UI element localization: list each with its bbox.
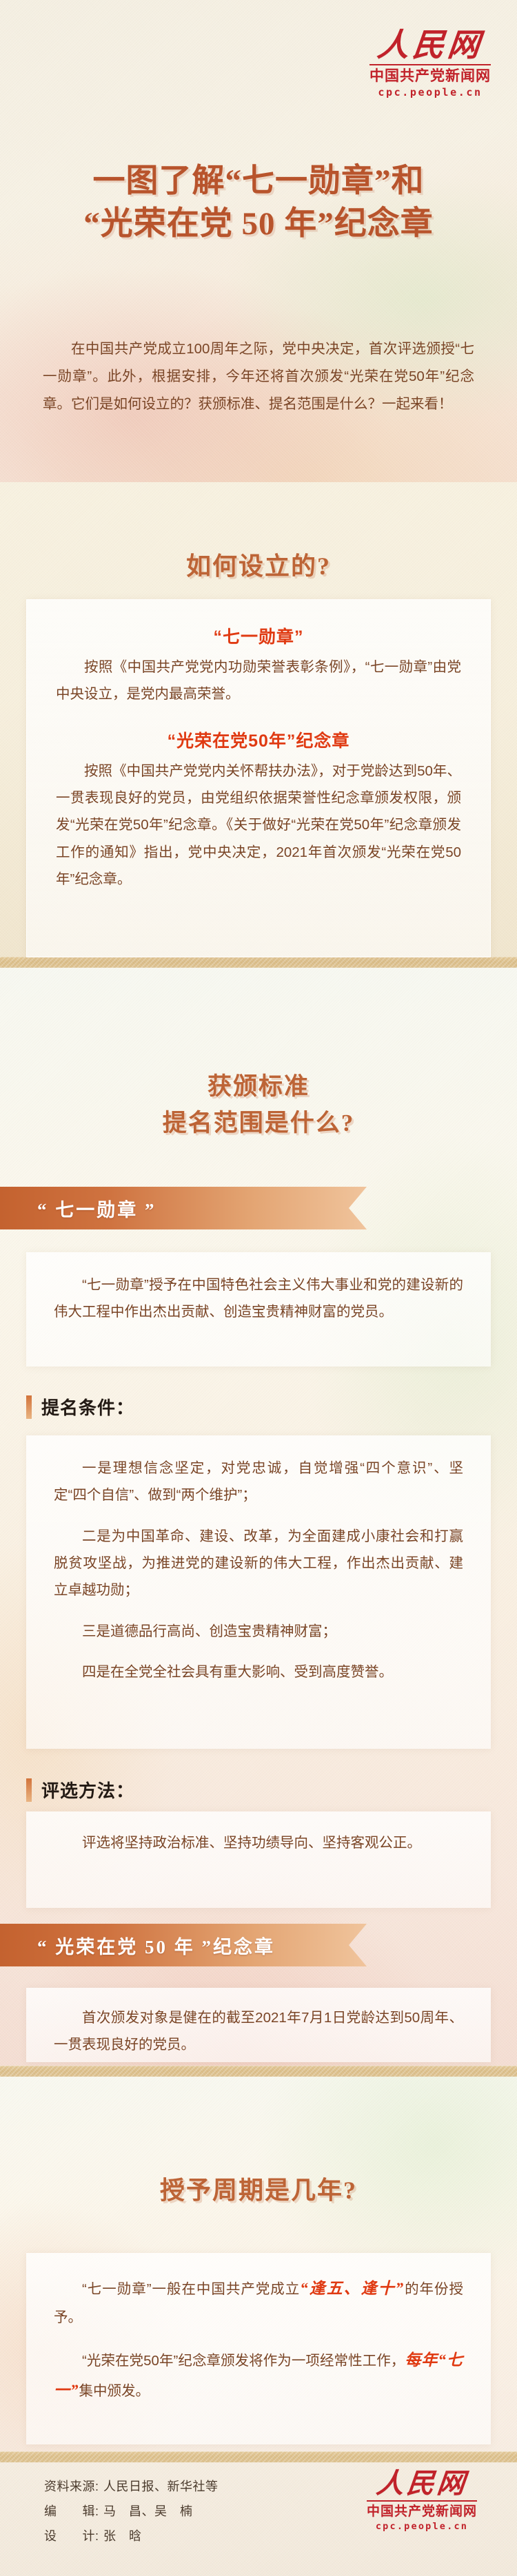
block-1-text: 按照《中国共产党党内功勋荣誉表彰条例》，“七一勋章”由党中央设立，是党内最高荣誉… bbox=[56, 654, 461, 708]
credit-label: 设 计: bbox=[44, 2524, 103, 2548]
section-1-heading: 如何设立的? bbox=[0, 548, 517, 585]
credit-row: 资料来源: 人民日报、新华社等 bbox=[44, 2474, 219, 2499]
section-2-heading: 获颁标准 提名范围是什么? bbox=[0, 1069, 517, 1141]
selection-method-label: 评选方法： bbox=[26, 1777, 134, 1803]
condition-item: 一是理想信念坚定，对党忠诚，自觉增强“四个意识”、坚定“四个自信”、做到“两个维… bbox=[54, 1455, 463, 1509]
logo-brush-text: 人民网 bbox=[365, 2469, 478, 2498]
medal-50-description-text: 首次颁发对象是健在的截至2021年7月1日党龄达到50周年、一贯表现良好的党员。 bbox=[54, 2004, 463, 2059]
site-logo-bottom: 人民网 中国共产党新闻网 cpc.people.cn bbox=[367, 2469, 477, 2532]
nomination-conditions-label-text: 提名条件： bbox=[41, 1394, 134, 1420]
accent-bar-icon bbox=[26, 1778, 32, 1802]
accent-bar-icon bbox=[26, 1395, 32, 1419]
intro-paragraph: 在中国共产党成立100周年之际，党中央决定，首次评选颁授“七一勋章”。此外，根据… bbox=[43, 335, 474, 418]
logo-brush-text: 人民网 bbox=[367, 29, 492, 62]
medal-description-card: “七一勋章”授予在中国特色社会主义伟大事业和党的建设新的伟大工程中作出杰出贡献、… bbox=[26, 1252, 491, 1367]
section-divider-1 bbox=[0, 957, 517, 968]
credit-row: 设 计: 张 晗 bbox=[44, 2524, 219, 2548]
award-cycle-paragraph-1: “七一勋章”一般在中国共产党成立“逢五、逢十”的年份授予。 bbox=[54, 2274, 463, 2331]
infographic-page: 人民网 中国共产党新闻网 cpc.people.cn 一图了解“七一勋章”和 “… bbox=[0, 0, 517, 2576]
section-2-heading-line-1: 获颁标准 bbox=[0, 1069, 517, 1105]
logo-divider-rule bbox=[369, 64, 491, 65]
logo-site-name: 中国共产党新闻网 bbox=[369, 68, 491, 85]
medal-description-text: “七一勋章”授予在中国特色社会主义伟大事业和党的建设新的伟大工程中作出杰出贡献、… bbox=[54, 1271, 463, 1326]
credit-value: 张 晗 bbox=[103, 2524, 142, 2548]
ribbon-qiyi-label: “ 七一勋章 ” bbox=[37, 1195, 156, 1222]
condition-item: 四是在全党全社会具有重大影响、受到高度赞誉。 bbox=[54, 1659, 463, 1685]
ribbon-50-years-label: “ 光荣在党 50 年 ”纪念章 bbox=[37, 1932, 275, 1959]
section-2-heading-line-2: 提名范围是什么? bbox=[0, 1105, 517, 1142]
site-logo-top: 人民网 中国共产党新闻网 cpc.people.cn bbox=[369, 29, 491, 98]
block-2-heading: “光荣在党50年”纪念章 bbox=[56, 727, 461, 752]
selection-method-text: 评选将坚持政治标准、坚持功绩导向、坚持客观公正。 bbox=[54, 1829, 463, 1856]
award-cycle-p2-before: “光荣在党50年”纪念章颁发将作为一项经常性工作， bbox=[82, 2353, 405, 2369]
page-title-line-2: “光荣在党 50 年”纪念章 bbox=[0, 202, 517, 245]
section-3-card: “七一勋章”一般在中国共产党成立“逢五、逢十”的年份授予。 “光荣在党50年”纪… bbox=[26, 2253, 491, 2444]
logo-url: cpc.people.cn bbox=[369, 86, 491, 98]
selection-method-card: 评选将坚持政治标准、坚持功绩导向、坚持客观公正。 bbox=[26, 1811, 491, 1908]
credit-value: 马 昌、吴 楠 bbox=[103, 2499, 193, 2524]
award-cycle-p1-highlight: “逢五、逢十” bbox=[300, 2280, 404, 2297]
section-1-card: “七一勋章” 按照《中国共产党党内功勋荣誉表彰条例》，“七一勋章”由党中央设立，… bbox=[26, 599, 491, 957]
nomination-conditions-label: 提名条件： bbox=[26, 1394, 134, 1420]
logo-divider-rule bbox=[367, 2500, 477, 2502]
credit-value: 人民日报、新华社等 bbox=[103, 2474, 219, 2499]
award-cycle-p2-after: 集中颁发。 bbox=[79, 2383, 150, 2399]
credit-label: 资料来源: bbox=[44, 2474, 103, 2499]
page-title-line-1: 一图了解“七一勋章”和 bbox=[0, 160, 517, 202]
credit-row: 编 辑: 马 昌、吴 楠 bbox=[44, 2499, 219, 2524]
award-cycle-p1-before: “七一勋章”一般在中国共产党成立 bbox=[82, 2281, 300, 2297]
section-divider-3 bbox=[0, 2451, 517, 2462]
ribbon-qiyi-medal: “ 七一勋章 ” bbox=[0, 1187, 367, 1229]
selection-method-label-text: 评选方法： bbox=[41, 1777, 134, 1803]
ribbon-50-years-medal: “ 光荣在党 50 年 ”纪念章 bbox=[0, 1924, 367, 1966]
award-cycle-paragraph-2: “光荣在党50年”纪念章颁发将作为一项经常性工作，每年“七一”集中颁发。 bbox=[54, 2345, 463, 2406]
condition-item: 三是道德品行高尚、创造宝贵精神财富； bbox=[54, 1618, 463, 1645]
section-3-heading: 授予周期是几年? bbox=[0, 2172, 517, 2209]
block-1-heading: “七一勋章” bbox=[56, 623, 461, 648]
section-divider-2 bbox=[0, 2066, 517, 2077]
condition-item: 二是为中国革命、建设、改革，为全面建成小康社会和打赢脱贫攻坚战，为推进党的建设新… bbox=[54, 1523, 463, 1604]
block-2-text: 按照《中国共产党党内关怀帮扶办法》，对于党龄达到50年、一贯表现良好的党员，由党… bbox=[56, 758, 461, 893]
logo-url: cpc.people.cn bbox=[367, 2521, 477, 2532]
footer-credits: 资料来源: 人民日报、新华社等 编 辑: 马 昌、吴 楠 设 计: 张 晗 bbox=[44, 2474, 219, 2548]
page-title: 一图了解“七一勋章”和 “光荣在党 50 年”纪念章 bbox=[0, 160, 517, 245]
logo-site-name: 中国共产党新闻网 bbox=[367, 2504, 477, 2520]
credit-label: 编 辑: bbox=[44, 2499, 103, 2524]
nomination-conditions-card: 一是理想信念坚定，对党忠诚，自觉增强“四个意识”、坚定“四个自信”、做到“两个维… bbox=[26, 1435, 491, 1749]
medal-50-description-card: 首次颁发对象是健在的截至2021年7月1日党龄达到50周年、一贯表现良好的党员。 bbox=[26, 1988, 491, 2062]
